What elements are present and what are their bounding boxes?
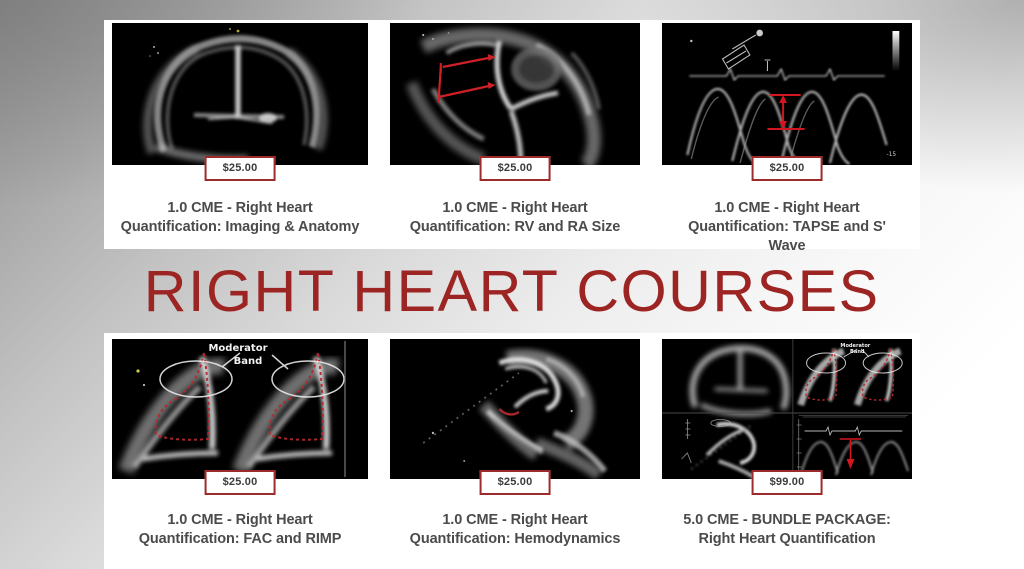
moderator-band-label-line1: Moderator (208, 343, 267, 354)
product-row-top: $25.00 1.0 CME - Right Heart Quantificat… (104, 20, 920, 249)
product-card[interactable]: $25.00 1.0 CME - Right Heart Quantificat… (376, 333, 648, 569)
banner: RIGHT HEART COURSES (0, 253, 1024, 331)
product-thumbnail-wrap: $25.00 (382, 20, 648, 165)
product-thumbnail-wrap: Moderator Band (654, 333, 920, 479)
product-card[interactable]: Moderator Band $25.00 1.0 CME - Right He… (104, 333, 376, 569)
echo-apical-four-chamber-image (112, 23, 368, 165)
product-title[interactable]: 1.0 CME - Right Heart Quantification: Im… (104, 199, 376, 237)
page-title: RIGHT HEART COURSES (144, 263, 880, 321)
echo-rv-ra-size-measurements-image (390, 23, 640, 165)
depth-label: -15 (887, 151, 897, 158)
product-thumbnail-wrap: -15 $25.00 (654, 20, 920, 165)
slide-canvas: $25.00 1.0 CME - Right Heart Quantificat… (0, 0, 1024, 569)
moderator-band-label-line2: Band (234, 356, 263, 367)
echo-bundle-four-panel-montage-image: Moderator Band (662, 339, 912, 479)
svg-text:Band: Band (850, 349, 865, 355)
product-thumbnail-wrap: $25.00 (382, 333, 648, 479)
product-thumbnail-wrap: Moderator Band $25.00 (104, 333, 376, 479)
product-title[interactable]: 5.0 CME - BUNDLE PACKAGE: Right Heart Qu… (654, 511, 920, 549)
product-title[interactable]: 1.0 CME - Right Heart Quantification: FA… (104, 511, 376, 549)
price-badge[interactable]: $99.00 (752, 470, 823, 495)
price-badge[interactable]: $25.00 (205, 470, 276, 495)
product-row-bottom: Moderator Band $25.00 1.0 CME - Right He… (104, 333, 920, 569)
price-badge[interactable]: $25.00 (205, 156, 276, 181)
price-badge[interactable]: $25.00 (752, 156, 823, 181)
price-badge[interactable]: $25.00 (480, 156, 551, 181)
product-card[interactable]: -15 $25.00 1.0 CME - Right Heart Quantif… (648, 20, 920, 249)
product-title[interactable]: 1.0 CME - Right Heart Quantification: He… (382, 511, 648, 549)
echo-hemodynamics-parasternal-image (390, 339, 640, 479)
product-thumbnail-wrap: $25.00 (104, 20, 376, 165)
echo-fac-rimp-tracing-image: Moderator Band (112, 339, 368, 479)
echo-tapse-m-mode-image: -15 (662, 23, 912, 165)
product-card[interactable]: Moderator Band (648, 333, 920, 569)
product-card[interactable]: $25.00 1.0 CME - Right Heart Quantificat… (104, 20, 376, 249)
price-badge[interactable]: $25.00 (480, 470, 551, 495)
product-card[interactable]: $25.00 1.0 CME - Right Heart Quantificat… (376, 20, 648, 249)
product-title[interactable]: 1.0 CME - Right Heart Quantification: TA… (654, 199, 920, 256)
product-title[interactable]: 1.0 CME - Right Heart Quantification: RV… (382, 199, 648, 237)
